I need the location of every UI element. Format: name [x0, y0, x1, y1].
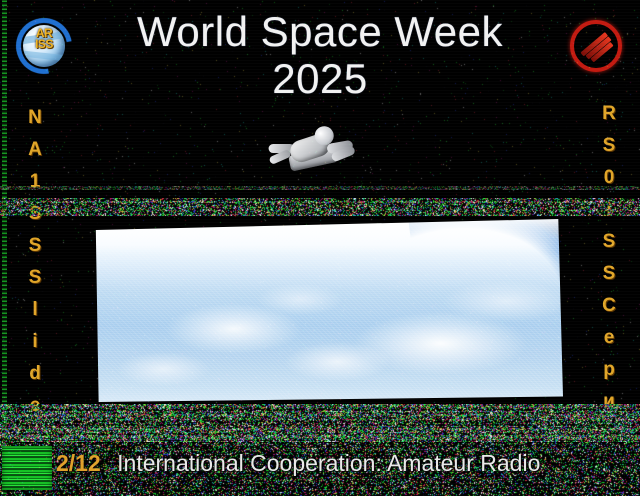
vchar: e [22, 390, 48, 422]
sstv-image-frame: AR ISS World Space Week 2025 N A 1 S S S… [0, 0, 640, 496]
vchar: S [596, 130, 622, 162]
ariss-logo-text: AR ISS [16, 28, 72, 50]
caption-text: International Cooperation: Amateur Radio [117, 450, 540, 476]
vchar: S [596, 226, 622, 258]
rgb-interference-band [0, 404, 640, 442]
caption-bar: 2/12 International Cooperation: Amateur … [56, 448, 636, 478]
vchar: S [22, 230, 48, 262]
vchar: 1 [22, 166, 48, 198]
vchar: N [22, 102, 48, 134]
left-vertical-callsign: N A 1 S S S l i d e [22, 102, 48, 422]
green-sync-block [2, 446, 52, 490]
vchar: l [22, 294, 48, 326]
vchar: и [596, 386, 622, 418]
page-title: World Space Week 2025 [88, 8, 552, 102]
astronaut-figure [262, 107, 367, 189]
vchar: р [596, 354, 622, 386]
vchar: A [22, 134, 48, 166]
right-vertical-callsign: R S 0 I S S С е р и [596, 98, 622, 418]
vchar: е [596, 322, 622, 354]
vchar: S [22, 262, 48, 294]
sync-strip [2, 0, 7, 496]
vchar: i [22, 326, 48, 358]
vchar: С [596, 290, 622, 322]
vchar: I [596, 194, 622, 226]
vchar: 0 [596, 162, 622, 194]
ariss-logo-text-line2: ISS [16, 39, 72, 50]
rgb-interference-band [0, 186, 640, 190]
earth-photo [93, 219, 563, 402]
vchar: S [596, 258, 622, 290]
vchar: S [22, 198, 48, 230]
photo-scanlines [93, 219, 563, 402]
vchar: d [22, 358, 48, 390]
title-line-2: 2025 [88, 55, 552, 102]
ariss-logo-icon: AR ISS [16, 18, 72, 74]
slide-index: 2/12 [56, 450, 101, 476]
vchar: R [596, 98, 622, 130]
rgb-interference-band [0, 198, 640, 216]
radio-emission-logo-icon [568, 18, 624, 74]
title-line-1: World Space Week [137, 8, 503, 55]
